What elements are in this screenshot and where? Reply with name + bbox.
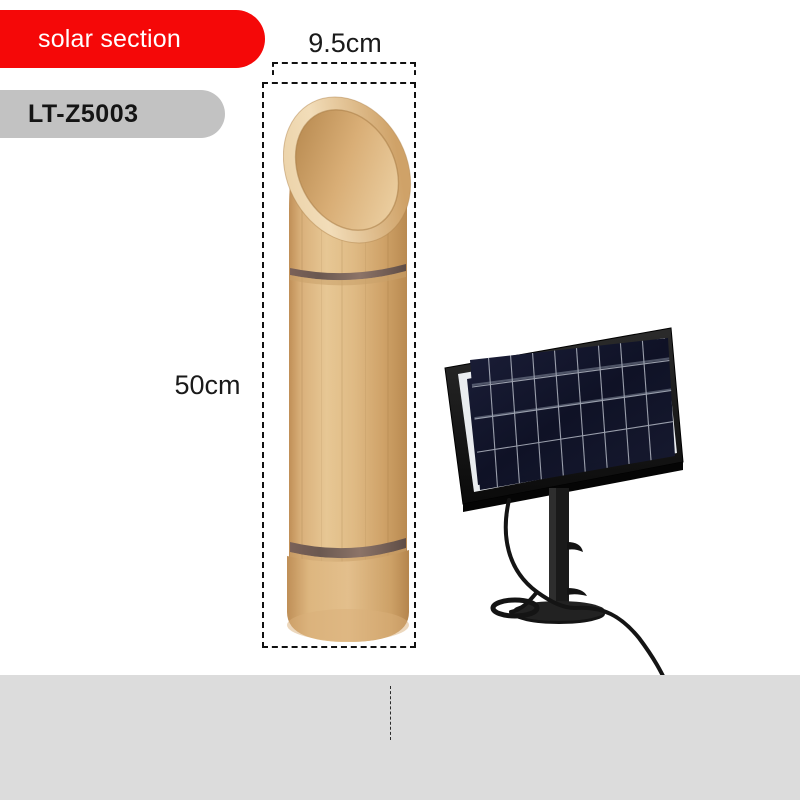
width-dimension-label: 9.5cm: [265, 28, 425, 59]
bamboo-base-segment: [287, 550, 409, 642]
product-spec-image: 9.5cm 50cm: [0, 0, 800, 800]
product-info-panel: [0, 675, 800, 800]
solar-panel: [445, 328, 683, 512]
badge-model-number[interactable]: LT-Z5003: [0, 90, 225, 138]
solar-panel-assembly: [425, 320, 715, 685]
power-cable: [506, 500, 669, 685]
badge-solar-section[interactable]: solar section: [0, 10, 265, 68]
height-dimension-label: 50cm: [160, 370, 255, 401]
bamboo-lamp-illustration: [283, 80, 413, 645]
info-panel-divider: [390, 686, 391, 740]
badge-solar-section-label: solar section: [38, 25, 181, 54]
width-dimension-bracket: [272, 62, 416, 75]
badge-model-number-label: LT-Z5003: [28, 100, 139, 129]
